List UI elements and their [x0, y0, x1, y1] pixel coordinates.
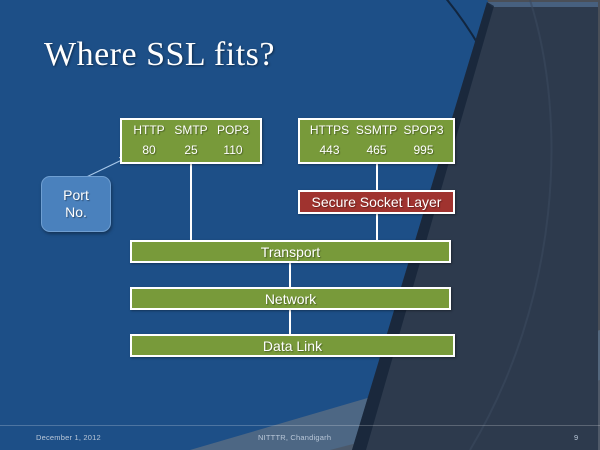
callout-line-2: No. [65, 204, 87, 221]
secure-protocols-box[interactable]: HTTPS SSMTP SPOP3 443 465 995 [298, 118, 455, 164]
secure-protocol-port-1: 465 [353, 143, 400, 157]
plain-protocol-port-1: 25 [170, 143, 212, 157]
plain-protocol-port-0: 80 [128, 143, 170, 157]
secure-protocol-name-2: SPOP3 [400, 123, 447, 137]
plain-protocol-name-0: HTTP [128, 123, 170, 137]
ssl-box-label: Secure Socket Layer [312, 194, 442, 210]
stack-layer-transport[interactable]: Transport [130, 240, 451, 263]
secure-protocol-port-0: 443 [306, 143, 353, 157]
secure-protocol-name-0: HTTPS [306, 123, 353, 137]
stack-layer-network[interactable]: Network [130, 287, 451, 310]
ssl-box[interactable]: Secure Socket Layer [298, 190, 455, 214]
secure-protocol-port-2: 995 [400, 143, 447, 157]
callout-line-1: Port [63, 187, 89, 204]
stack-layer-label: Data Link [263, 338, 322, 354]
secure-protocol-name-1: SSMTP [353, 123, 400, 137]
port-number-callout[interactable]: Port No. [41, 176, 111, 232]
slide-canvas: Where SSL fits? Port No. HTTP SMTP POP3 … [0, 0, 600, 450]
stack-layer-label: Transport [261, 244, 320, 260]
plain-protocol-name-1: SMTP [170, 123, 212, 137]
secure-protocol-names-row: HTTPS SSMTP SPOP3 [306, 123, 447, 137]
footer-date: December 1, 2012 [36, 433, 101, 442]
stack-layer-data-link[interactable]: Data Link [130, 334, 455, 357]
plain-protocol-port-2: 110 [212, 143, 254, 157]
footer-organization: NITTTR, Chandigarh [258, 433, 331, 442]
footer-divider [0, 425, 600, 426]
stack-layer-label: Network [265, 291, 316, 307]
page-title: Where SSL fits? [44, 36, 275, 74]
plain-protocol-ports-row: 80 25 110 [128, 143, 254, 157]
plain-protocols-box[interactable]: HTTP SMTP POP3 80 25 110 [120, 118, 262, 164]
footer-page-number: 9 [574, 433, 578, 442]
plain-protocol-names-row: HTTP SMTP POP3 [128, 123, 254, 137]
secure-protocol-ports-row: 443 465 995 [306, 143, 447, 157]
plain-protocol-name-2: POP3 [212, 123, 254, 137]
